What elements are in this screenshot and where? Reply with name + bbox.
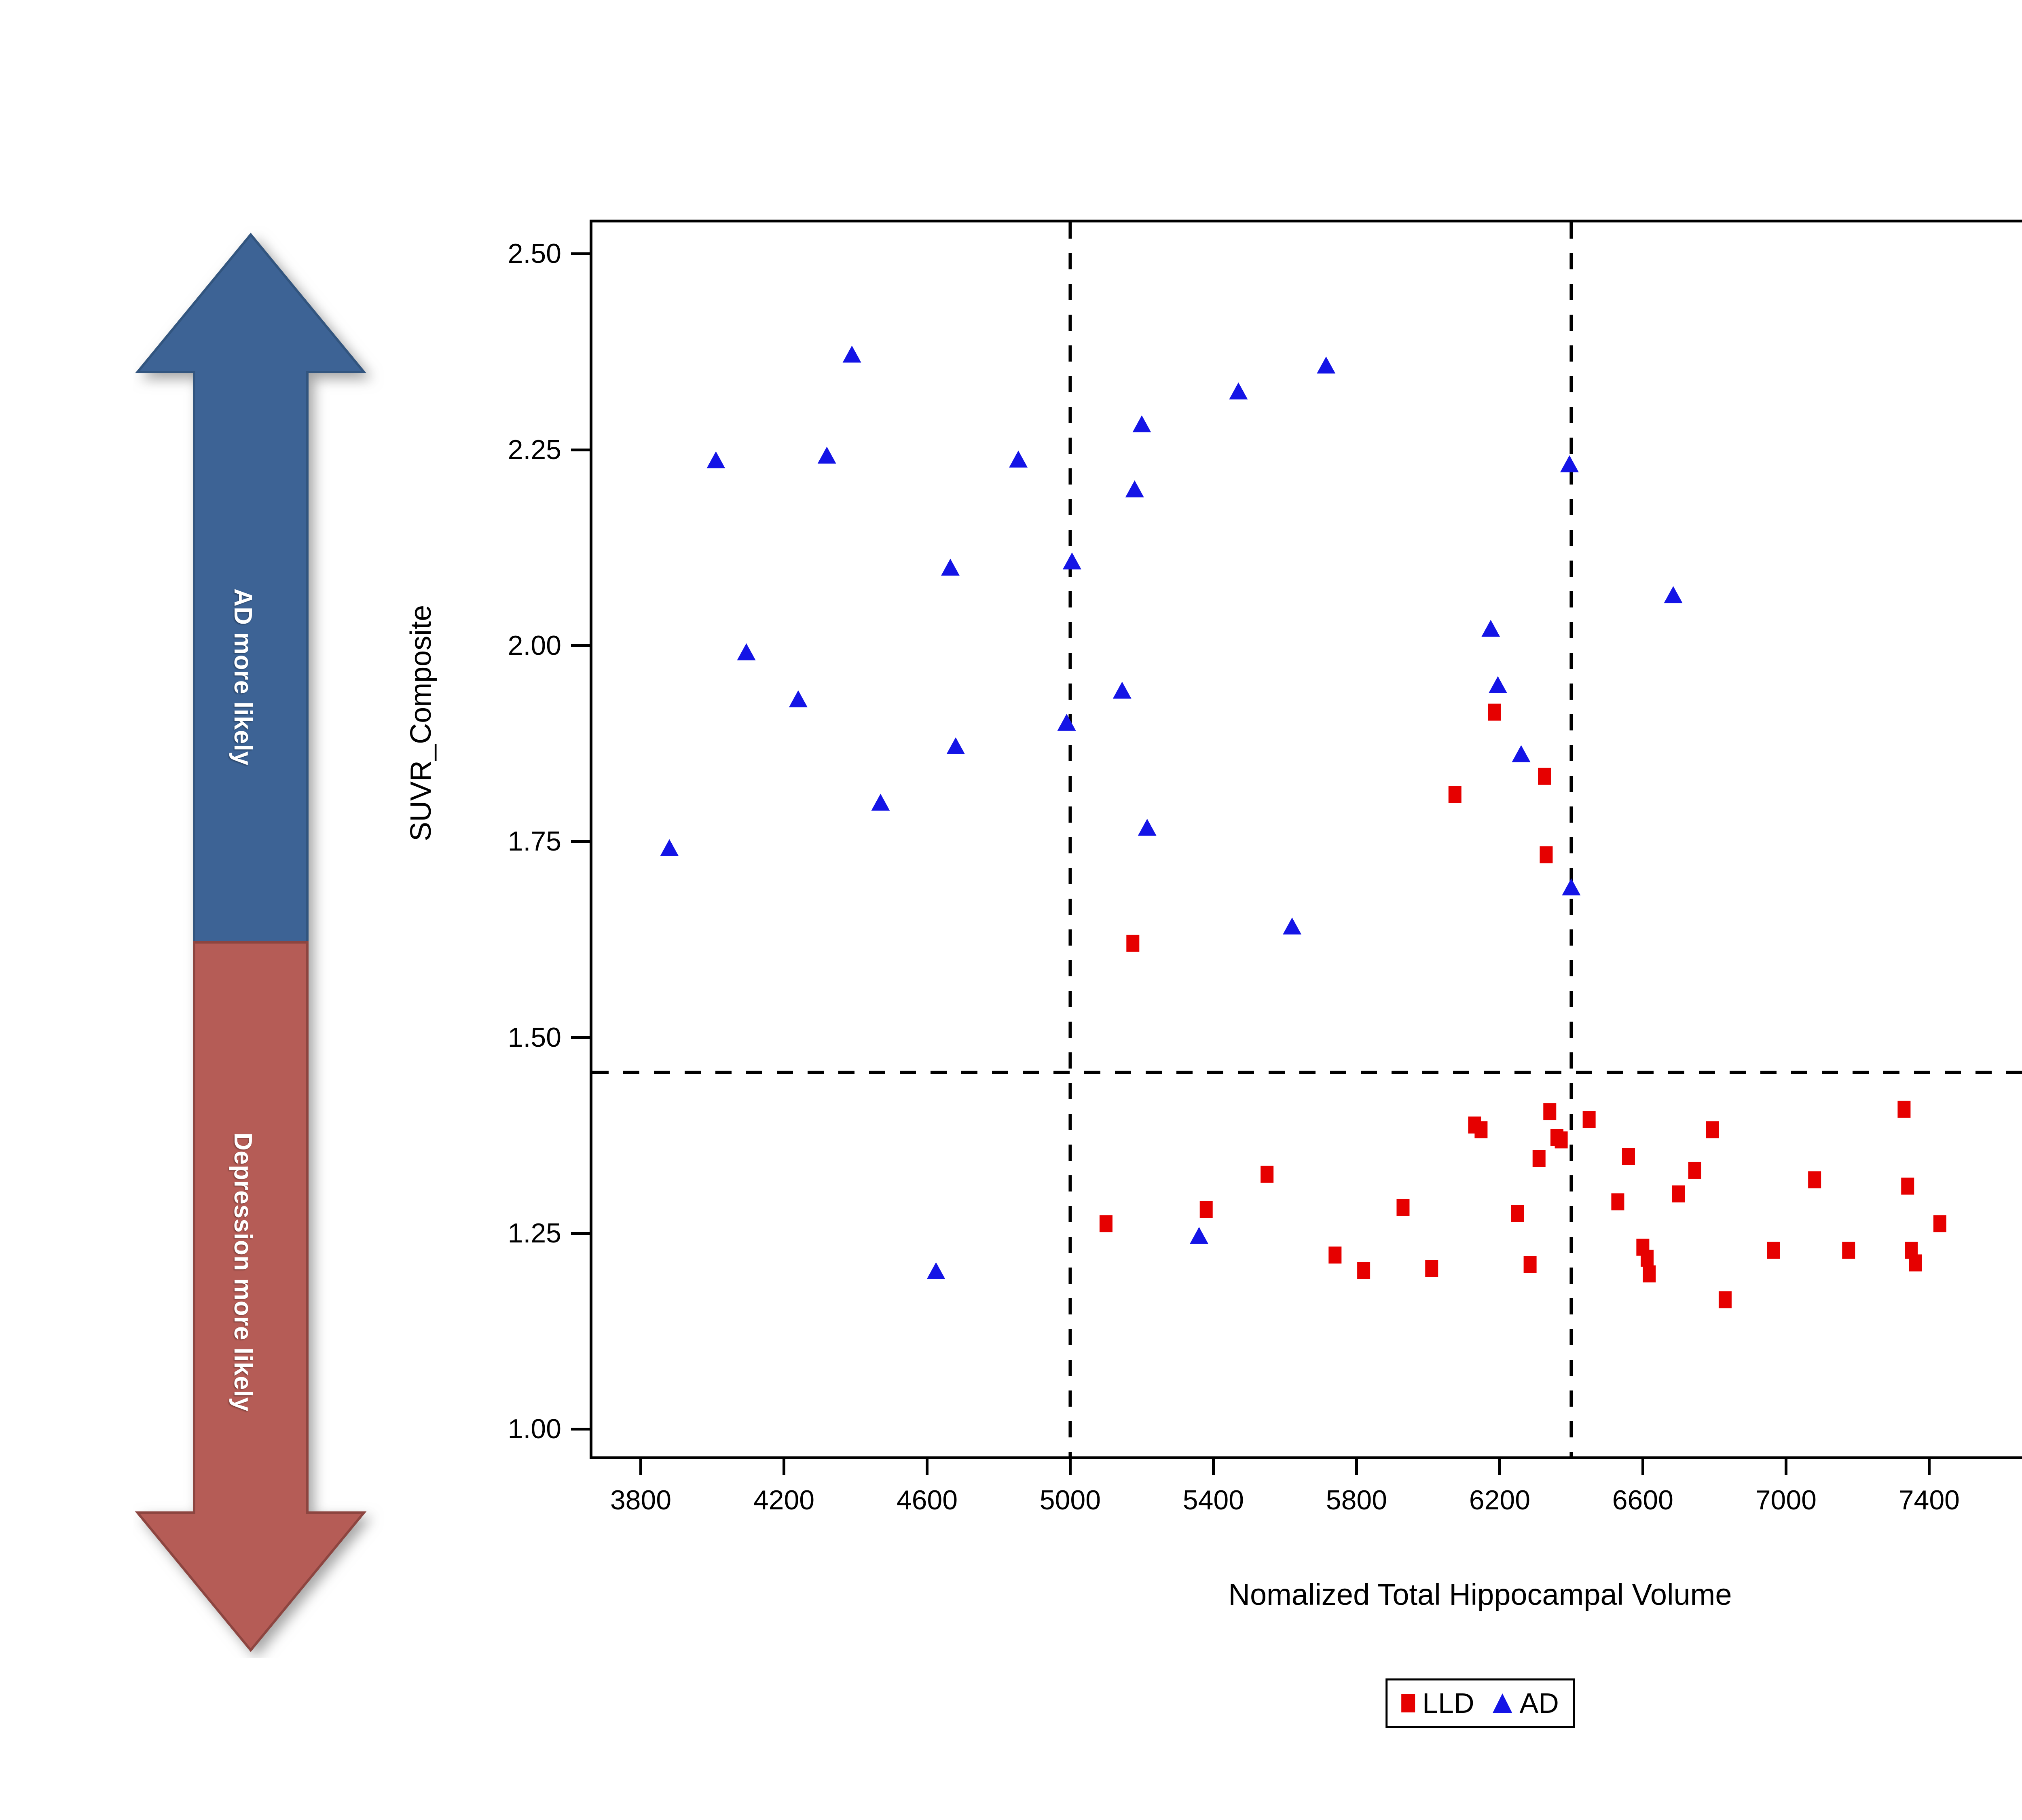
legend-label-lld: LLD [1422,1687,1474,1719]
y-tick-mark [571,1232,590,1235]
data-point-ad [1058,714,1076,731]
x-tick-mark [783,1456,785,1475]
data-point-ad [1132,415,1151,432]
data-point-ad [871,794,890,811]
y-tick-mark [571,1428,590,1431]
x-tick-mark [1641,1456,1644,1475]
data-point-ad [660,839,679,856]
x-tick-label: 5000 [1040,1484,1101,1516]
data-point-lld [1767,1242,1780,1259]
data-point-lld [1540,846,1552,863]
data-point-ad [1512,745,1530,762]
data-point-ad [1283,918,1301,935]
data-point-ad [946,737,965,754]
data-point-ad [1138,819,1157,836]
y-tick-label: 1.50 [476,1022,561,1053]
data-point-lld [1261,1166,1273,1183]
scatter-plot: 1.001.251.501.752.002.252.50 38004200460… [0,0,2022,1820]
data-point-ad [1664,586,1683,603]
data-point-lld [1933,1215,1946,1232]
data-point-ad [1229,382,1248,399]
data-point-lld [1538,768,1551,785]
data-point-ad [789,690,808,707]
data-point-ad [706,451,725,468]
y-tick-label: 2.25 [476,434,561,466]
x-tick-label: 4200 [753,1484,814,1516]
y-axis-title: SUVR_Composite [404,605,438,841]
data-point-lld [1474,1121,1487,1138]
x-tick-mark [1212,1456,1215,1475]
data-point-lld [1543,1103,1556,1120]
data-point-ad [737,643,756,660]
data-point-lld [1643,1266,1656,1282]
legend-item-ad: AD [1493,1687,1559,1719]
data-point-lld [1688,1162,1701,1179]
data-point-ad [1009,451,1028,468]
x-tick-mark [1785,1456,1787,1475]
data-point-ad [1190,1227,1208,1244]
data-point-lld [1901,1178,1914,1195]
data-point-ad [818,447,836,463]
data-point-lld [1488,704,1501,721]
data-point-lld [1808,1171,1821,1188]
data-point-lld [1583,1111,1596,1128]
data-point-lld [1425,1260,1438,1277]
x-tick-mark [1498,1456,1501,1475]
data-point-lld [1897,1101,1910,1118]
data-point-lld [1555,1131,1568,1148]
data-point-lld [1533,1150,1546,1167]
y-tick-mark [571,840,590,843]
data-layer [592,222,2022,1456]
data-point-ad [941,559,960,576]
data-point-lld [1842,1242,1855,1259]
data-point-lld [1511,1205,1524,1222]
y-tick-label: 2.50 [476,238,561,269]
data-point-ad [1489,676,1507,693]
x-tick-label: 5400 [1183,1484,1244,1516]
plot-svg [592,222,2022,1456]
x-tick-mark [1928,1456,1931,1475]
data-point-lld [1200,1201,1213,1218]
data-point-lld [1719,1291,1732,1308]
legend-triangle-marker-icon [1493,1693,1512,1713]
data-point-lld [1622,1148,1635,1165]
data-point-lld [1706,1121,1719,1138]
data-point-ad [1063,552,1081,569]
x-tick-label: 3800 [610,1484,671,1516]
x-tick-mark [1069,1456,1072,1475]
y-tick-label: 1.75 [476,825,561,857]
data-point-lld [1396,1199,1409,1216]
x-tick-label: 6600 [1612,1484,1673,1516]
x-axis-title: Nomalized Total Hippocampal Volume [1229,1577,1732,1612]
y-tick-mark [571,449,590,451]
data-point-lld [1524,1256,1537,1273]
plot-frame [590,220,2022,1459]
data-point-ad [1125,480,1144,497]
y-tick-mark [571,1036,590,1039]
legend-item-lld: LLD [1401,1687,1474,1719]
y-tick-label: 2.00 [476,630,561,661]
data-point-lld [1328,1246,1341,1263]
data-point-ad [1317,357,1335,374]
data-point-lld [1449,786,1462,803]
y-tick-mark [571,644,590,647]
data-point-ad [1481,620,1500,637]
data-point-ad [843,345,861,362]
y-tick-label: 1.25 [476,1217,561,1249]
legend-square-marker-icon [1401,1694,1415,1712]
x-tick-label: 7000 [1756,1484,1817,1516]
data-point-lld [1641,1250,1654,1267]
data-point-lld [1357,1262,1370,1279]
x-tick-mark [639,1456,642,1475]
y-tick-mark [571,252,590,255]
x-tick-mark [926,1456,929,1475]
x-tick-label: 6200 [1469,1484,1530,1516]
chart-legend: LLD AD [1385,1678,1575,1728]
data-point-lld [1126,935,1139,952]
y-tick-label: 1.00 [476,1413,561,1445]
data-point-lld [1909,1255,1922,1272]
data-point-lld [1100,1215,1113,1232]
legend-label-ad: AD [1520,1687,1559,1719]
x-tick-mark [1355,1456,1358,1475]
data-point-lld [1611,1193,1624,1210]
x-tick-label: 4600 [897,1484,958,1516]
data-point-ad [1560,455,1579,472]
data-point-lld [1672,1185,1685,1202]
data-point-ad [927,1262,945,1279]
x-tick-label: 7400 [1899,1484,1960,1516]
data-point-ad [1562,878,1580,895]
data-point-ad [1113,681,1132,698]
x-tick-label: 5800 [1326,1484,1387,1516]
